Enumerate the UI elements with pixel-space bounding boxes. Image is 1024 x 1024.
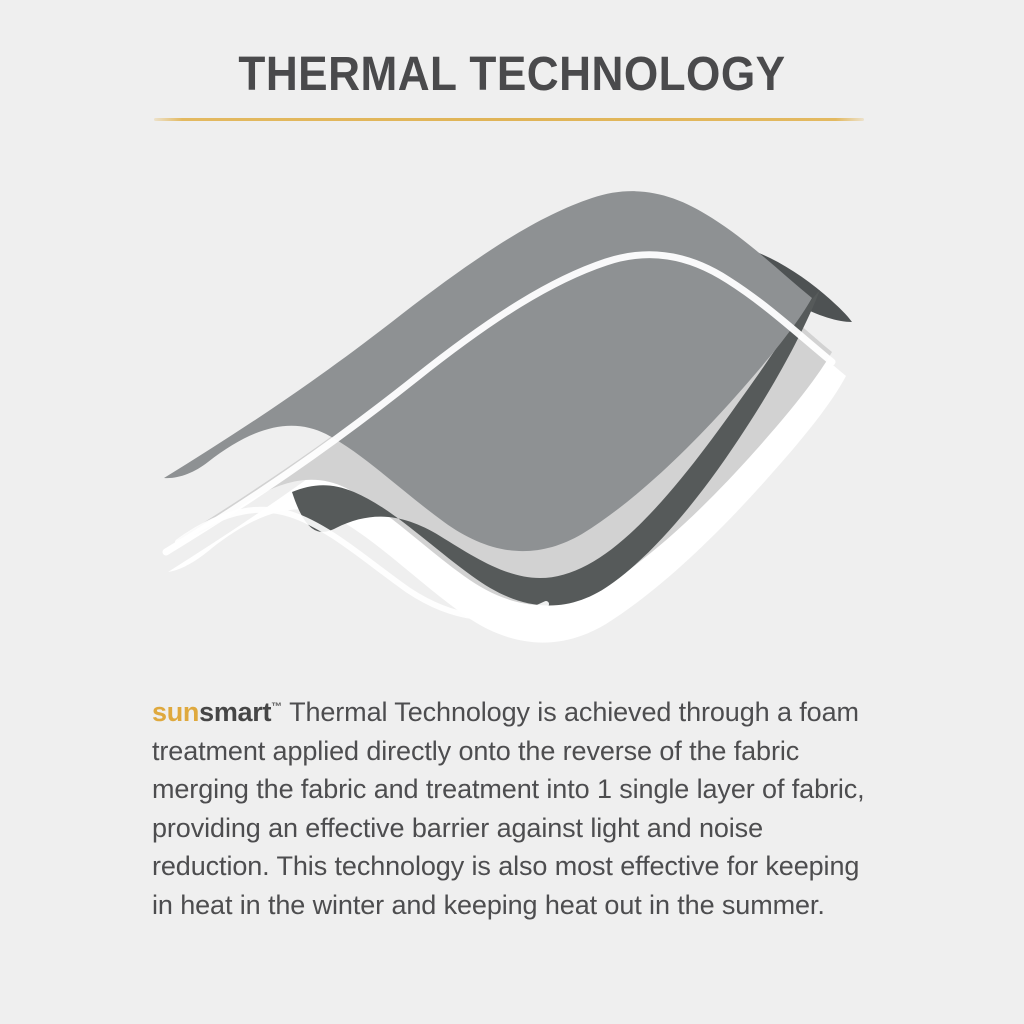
description-text: Thermal Technology is achieved through a…	[152, 697, 865, 920]
brand-smart-text: smart	[199, 697, 271, 727]
trademark-icon: ™	[271, 701, 282, 713]
description-paragraph: sunsmart™ Thermal Technology is achieved…	[152, 688, 876, 924]
product-info-panel: THERMAL TECHNOLOGY sunsmart™ Thermal Tec…	[0, 0, 1024, 1024]
page-title: THERMAL TECHNOLOGY	[41, 48, 983, 102]
brand-logo-text: sunsmart™	[152, 697, 282, 727]
fabric-diagram-svg	[0, 180, 1024, 670]
title-divider-rule	[154, 118, 864, 121]
description-block: sunsmart™ Thermal Technology is achieved…	[152, 688, 876, 924]
layered-fabric-illustration	[0, 180, 1024, 670]
header: THERMAL TECHNOLOGY	[0, 48, 1024, 102]
brand-sun-text: sun	[152, 697, 199, 727]
